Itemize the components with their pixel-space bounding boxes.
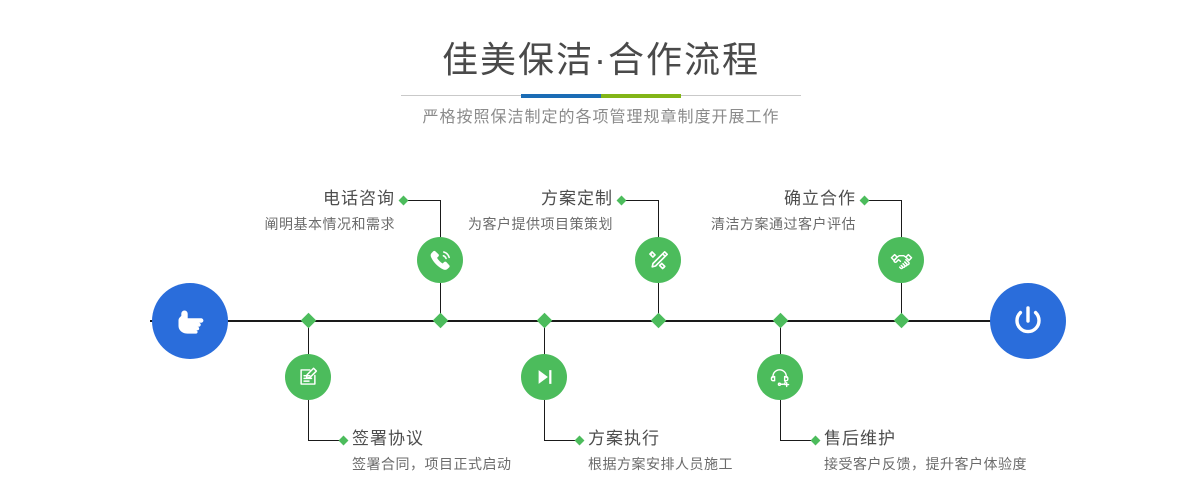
connector-elbow-h-bottom-1 <box>308 440 342 441</box>
connector-tick-bottom-3 <box>811 436 821 446</box>
connector-tick-top-3 <box>860 196 870 206</box>
step-icon-badge-phone[interactable] <box>417 237 463 283</box>
axis-marker-top-1 <box>433 313 449 329</box>
connector-elbow-v-bottom-3 <box>780 400 781 440</box>
connector-tick-bottom-2 <box>575 436 585 446</box>
connector-elbow-v-bottom-2 <box>544 400 545 440</box>
connector-elbow-h-bottom-2 <box>544 440 578 441</box>
axis-marker-bottom-2 <box>537 313 553 329</box>
power-icon <box>1007 300 1049 342</box>
step-title: 方案执行 <box>588 428 803 450</box>
connector-elbow-v-top-1 <box>440 200 441 238</box>
step-title: 确立合作 <box>650 188 856 210</box>
connector-elbow-v-bottom-1 <box>308 400 309 440</box>
step-desc: 根据方案安排人员施工 <box>588 453 803 475</box>
step-title: 方案定制 <box>415 188 613 210</box>
connector-elbow-h-bottom-3 <box>780 440 814 441</box>
step-title: 售后维护 <box>824 428 1074 450</box>
handshake-icon <box>888 247 915 274</box>
timeline-axis <box>150 320 1052 322</box>
divider-segment-green <box>601 94 681 98</box>
step-icon-badge-execute[interactable] <box>521 354 567 400</box>
pointing-hand-icon <box>170 301 210 341</box>
step-desc: 为客户提供项目策策划 <box>415 213 613 235</box>
page-title: 佳美保洁·合作流程 <box>0 38 1202 82</box>
document-edit-icon <box>295 364 321 390</box>
step-icon-badge-support[interactable] <box>757 354 803 400</box>
step-title: 签署协议 <box>352 428 572 450</box>
connector-elbow-h-top-2 <box>625 200 659 201</box>
step-label-top-2: 方案定制 为客户提供项目策策划 <box>415 188 613 235</box>
connector-tick-top-1 <box>399 196 409 206</box>
step-icon-badge-sign[interactable] <box>285 354 331 400</box>
axis-marker-top-3 <box>894 313 910 329</box>
pencil-ruler-icon <box>645 247 672 274</box>
step-label-bottom-1: 签署协议 签署合同，项目正式启动 <box>352 428 572 475</box>
timeline-start-badge <box>152 283 228 359</box>
axis-marker-bottom-3 <box>773 313 789 329</box>
step-label-top-3: 确立合作 清洁方案通过客户评估 <box>650 188 856 235</box>
step-icon-badge-handshake[interactable] <box>878 237 924 283</box>
connector-elbow-v-top-3 <box>901 200 902 238</box>
axis-marker-top-2 <box>651 313 667 329</box>
step-icon-badge-plan[interactable] <box>635 237 681 283</box>
process-flow-infographic: 佳美保洁·合作流程 严格按照保洁制定的各项管理规章制度开展工作 <box>0 0 1202 502</box>
timeline-end-badge <box>990 283 1066 359</box>
step-desc: 接受客户反馈，提升客户体验度 <box>824 453 1074 475</box>
step-label-bottom-3: 售后维护 接受客户反馈，提升客户体验度 <box>824 428 1074 475</box>
step-label-top-1: 电话咨询 阐明基本情况和需求 <box>200 188 395 235</box>
connector-elbow-h-top-3 <box>868 200 902 201</box>
page-subtitle: 严格按照保洁制定的各项管理规章制度开展工作 <box>0 106 1202 130</box>
step-desc: 清洁方案通过客户评估 <box>650 213 856 235</box>
divider-segment-blue <box>521 94 601 98</box>
connector-tick-bottom-1 <box>339 436 349 446</box>
step-label-bottom-2: 方案执行 根据方案安排人员施工 <box>588 428 803 475</box>
step-title: 电话咨询 <box>200 188 395 210</box>
connector-elbow-h-top-1 <box>407 200 441 201</box>
customer-support-add-icon <box>767 364 793 390</box>
phone-call-icon <box>427 247 454 274</box>
step-desc: 阐明基本情况和需求 <box>200 213 395 235</box>
axis-marker-bottom-1 <box>301 313 317 329</box>
title-divider <box>401 94 801 98</box>
play-skip-icon <box>531 364 557 390</box>
step-desc: 签署合同，项目正式启动 <box>352 453 572 475</box>
connector-elbow-v-top-2 <box>658 200 659 238</box>
connector-tick-top-2 <box>617 196 627 206</box>
